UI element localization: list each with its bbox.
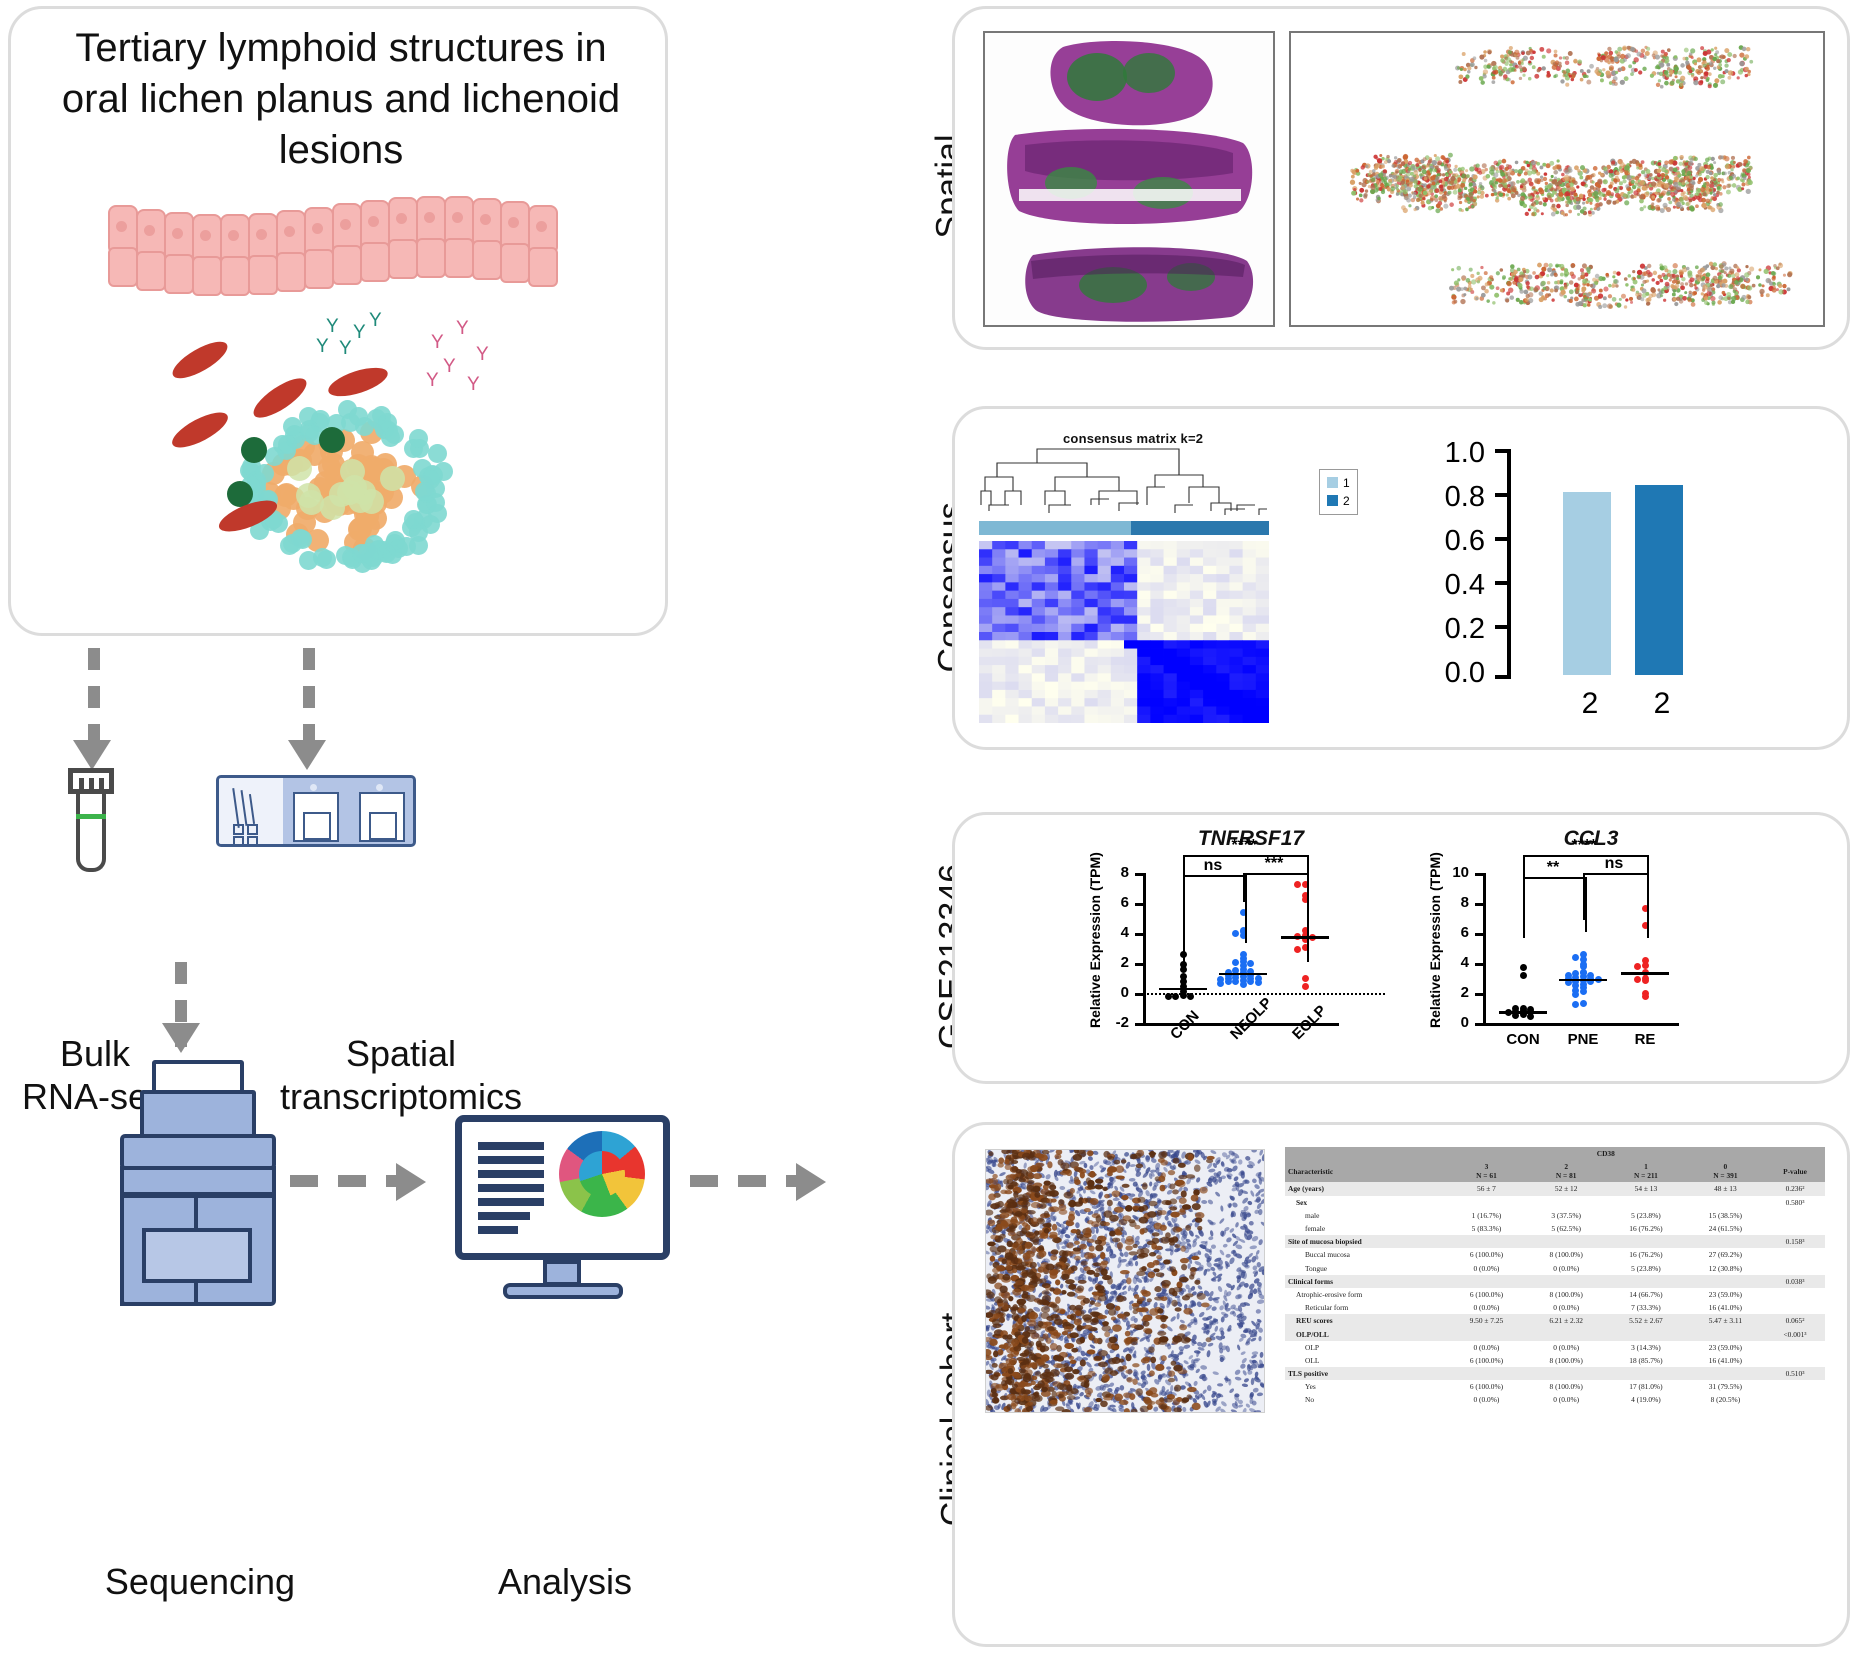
he-stained-tissue-image bbox=[983, 31, 1275, 327]
heatmap-cell bbox=[1243, 558, 1257, 567]
spatial-spot bbox=[1608, 184, 1612, 188]
spatial-spot bbox=[1661, 290, 1665, 294]
heatmap-cell bbox=[1124, 574, 1138, 583]
spatial-spot bbox=[1624, 200, 1629, 205]
spatial-spot bbox=[1658, 79, 1661, 82]
heatmap-cell bbox=[1190, 649, 1204, 658]
heatmap-cell bbox=[1256, 673, 1269, 682]
spatial-spot bbox=[1452, 300, 1456, 304]
spatial-spot bbox=[1509, 63, 1513, 67]
heatmap-cell bbox=[1032, 607, 1046, 616]
heatmap-cell bbox=[979, 706, 993, 715]
spatial-spot bbox=[1665, 282, 1670, 287]
heatmap-cell bbox=[1111, 541, 1125, 550]
spatial-spot bbox=[1661, 50, 1665, 54]
spatial-spot bbox=[1462, 178, 1466, 182]
spatial-spot bbox=[1612, 201, 1616, 205]
spatial-spot bbox=[1359, 194, 1363, 198]
spatial-spot bbox=[1727, 76, 1731, 80]
heatmap-cell bbox=[1058, 665, 1072, 674]
spatial-spot bbox=[1657, 162, 1661, 166]
heatmap-cell bbox=[1243, 615, 1257, 624]
spatial-spot bbox=[1760, 294, 1763, 297]
data-point bbox=[1642, 993, 1649, 1000]
spatial-spot bbox=[1657, 183, 1661, 187]
x-tick-label: CON bbox=[1501, 1031, 1545, 1048]
spatial-spot bbox=[1439, 207, 1443, 211]
spatial-spot bbox=[1546, 48, 1551, 53]
tube-cap bbox=[68, 768, 114, 794]
spatial-spot bbox=[1547, 267, 1552, 272]
spatial-spot bbox=[1672, 274, 1676, 278]
spatial-spot bbox=[1533, 207, 1537, 211]
spatial-spot bbox=[1641, 49, 1645, 53]
heatmap-cell bbox=[1243, 624, 1257, 633]
spatial-spot bbox=[1454, 173, 1458, 177]
spatial-spot bbox=[1436, 203, 1441, 208]
y-tick bbox=[1135, 903, 1143, 906]
t-cell bbox=[265, 447, 284, 466]
spatial-spot bbox=[1480, 80, 1484, 84]
spatial-spot bbox=[1709, 171, 1713, 175]
heatmap-cell bbox=[1177, 624, 1191, 633]
heatmap-cell bbox=[1177, 682, 1191, 691]
spatial-spot bbox=[1668, 200, 1672, 204]
spatial-spot bbox=[1365, 189, 1368, 192]
spatial-spot bbox=[1680, 282, 1684, 286]
spatial-spot bbox=[1480, 266, 1483, 269]
heatmap-cell bbox=[1190, 558, 1204, 567]
bar-ytick-label-3: 0.4 bbox=[1415, 569, 1485, 602]
data-point bbox=[1187, 993, 1194, 1000]
spatial-spot bbox=[1613, 178, 1617, 182]
heatmap-cell bbox=[1071, 566, 1085, 575]
spatial-spot bbox=[1669, 70, 1674, 75]
spatial-spot bbox=[1787, 272, 1792, 277]
heatmap-cell bbox=[1137, 549, 1151, 558]
heatmap-cell bbox=[1098, 690, 1112, 699]
ihc-cd38-image bbox=[985, 1149, 1265, 1413]
heatmap-cell bbox=[1084, 599, 1098, 608]
spatial-spot bbox=[1749, 60, 1753, 64]
antibody-icon: Y bbox=[467, 375, 480, 394]
heatmap-cell bbox=[1005, 673, 1019, 682]
heatmap-cell bbox=[1124, 649, 1138, 658]
spatial-spot bbox=[1706, 78, 1710, 82]
spatial-spot bbox=[1707, 287, 1712, 292]
heatmap-cell bbox=[1058, 649, 1072, 658]
spatial-spot bbox=[1718, 74, 1723, 79]
heatmap-cell bbox=[1137, 615, 1151, 624]
tube-liquid bbox=[76, 814, 106, 819]
spatial-spot bbox=[1663, 265, 1668, 270]
spatial-spot bbox=[1519, 300, 1523, 304]
spatial-spot bbox=[1554, 272, 1557, 275]
heatmap-cell bbox=[1032, 715, 1046, 723]
spatial-spot bbox=[1716, 59, 1720, 63]
heatmap-cell bbox=[992, 640, 1006, 649]
heatmap-cell bbox=[1032, 682, 1046, 691]
spatial-spot bbox=[1622, 45, 1627, 50]
spatial-spot bbox=[1588, 193, 1592, 197]
heatmap-cell bbox=[1164, 566, 1178, 575]
spatial-spot bbox=[1576, 205, 1581, 210]
spatial-spot bbox=[1729, 176, 1733, 180]
spatial-spot bbox=[1554, 176, 1557, 179]
heatmap-cell bbox=[1177, 558, 1191, 567]
spatial-spot bbox=[1484, 59, 1488, 63]
spatial-spot bbox=[1743, 176, 1747, 180]
basal-epithelial-cell bbox=[276, 252, 306, 292]
heatmap-cell bbox=[1084, 566, 1098, 575]
caption-analysis: Analysis bbox=[450, 1560, 680, 1603]
spatial-spot bbox=[1598, 69, 1602, 73]
spatial-spot bbox=[1489, 181, 1494, 186]
spatial-spot bbox=[1540, 176, 1543, 179]
spatial-spot bbox=[1527, 275, 1532, 280]
spatial-spot bbox=[1632, 159, 1637, 164]
spatial-spot bbox=[1582, 202, 1585, 205]
spatial-spot bbox=[1613, 279, 1618, 284]
arrow-head-to-sequencing bbox=[162, 1023, 200, 1053]
spatial-spot bbox=[1724, 63, 1728, 67]
spatial-spot bbox=[1355, 169, 1359, 173]
spatial-spot bbox=[1552, 166, 1556, 170]
heatmap-cell bbox=[1058, 591, 1072, 600]
heatmap-cell bbox=[1243, 690, 1257, 699]
heatmap-cell bbox=[1256, 698, 1269, 707]
heatmap-cell bbox=[1203, 624, 1217, 633]
median-line bbox=[1621, 972, 1669, 975]
spatial-spot bbox=[1411, 165, 1415, 169]
basal-epithelial-cell bbox=[388, 239, 418, 279]
heatmap-cell bbox=[1058, 607, 1072, 616]
spatial-spot bbox=[1516, 298, 1520, 302]
spatial-spot bbox=[1514, 50, 1519, 55]
spatial-spot bbox=[1787, 287, 1791, 291]
data-point bbox=[1172, 993, 1179, 1000]
spatial-spot bbox=[1564, 274, 1568, 278]
spatial-spot bbox=[1608, 294, 1612, 298]
legend-item-1: 1 bbox=[1327, 474, 1350, 492]
heatmap-cell bbox=[1190, 615, 1204, 624]
spatial-spot bbox=[1673, 156, 1678, 161]
heatmap-cell bbox=[1229, 673, 1243, 682]
heatmap-cell bbox=[1005, 657, 1019, 666]
spatial-spot bbox=[1552, 204, 1556, 208]
spatial-spot bbox=[1506, 281, 1511, 286]
plot-tnfrsf17: TNFRSF1786420-2Relative Expression (TPM)… bbox=[1065, 825, 1395, 1077]
spatial-spot bbox=[1557, 186, 1561, 190]
heatmap-cell bbox=[1150, 640, 1164, 649]
spatial-spot bbox=[1502, 178, 1507, 183]
heatmap-cell bbox=[1177, 615, 1191, 624]
spatial-spot bbox=[1655, 55, 1660, 60]
heatmap-cell bbox=[1229, 566, 1243, 575]
spatial-spot bbox=[1434, 154, 1437, 157]
spatial-spot bbox=[1711, 196, 1715, 200]
spatial-spot bbox=[1568, 210, 1572, 214]
heatmap-cell bbox=[1229, 558, 1243, 567]
spatial-spot bbox=[1408, 194, 1412, 198]
heatmap-cell bbox=[1150, 558, 1164, 567]
heatmap-cell bbox=[1190, 591, 1204, 600]
spatial-spot bbox=[1376, 180, 1380, 184]
epithelial-cell-nucleus bbox=[368, 216, 379, 227]
spatial-spot bbox=[1581, 289, 1585, 293]
t-cell bbox=[385, 425, 404, 444]
spatial-spot bbox=[1485, 194, 1489, 198]
heatmap-cell bbox=[979, 665, 993, 674]
spatial-spot bbox=[1370, 185, 1375, 190]
spatial-spot bbox=[1514, 69, 1517, 72]
spatial-spot bbox=[1713, 262, 1717, 266]
heatmap-cell bbox=[1058, 690, 1072, 699]
heatmap-cell bbox=[1177, 549, 1191, 558]
heatmap-cell bbox=[1256, 574, 1269, 583]
spatial-spot bbox=[1458, 74, 1463, 79]
data-point bbox=[1232, 978, 1239, 985]
spatial-spot bbox=[1614, 57, 1619, 62]
y-tick bbox=[1135, 963, 1143, 966]
heatmap-cell bbox=[1216, 591, 1230, 600]
heatmap-cell bbox=[1256, 591, 1269, 600]
spatial-spot bbox=[1681, 192, 1685, 196]
spatial-spot bbox=[1469, 182, 1473, 186]
spatial-spot bbox=[1558, 180, 1562, 184]
spatial-spot bbox=[1691, 74, 1694, 77]
bar-cluster-1 bbox=[1563, 492, 1611, 675]
spatial-spot bbox=[1531, 160, 1536, 165]
spatial-spot bbox=[1593, 191, 1598, 196]
heatmap-cell bbox=[1045, 549, 1059, 558]
heatmap-cell bbox=[992, 574, 1006, 583]
spatial-spot bbox=[1711, 48, 1714, 51]
spatial-spot bbox=[1520, 178, 1525, 183]
significance-bracket bbox=[1583, 873, 1649, 920]
spatial-spot bbox=[1508, 277, 1511, 280]
spatial-spot bbox=[1699, 69, 1702, 72]
heatmap-cell bbox=[1203, 698, 1217, 707]
spatial-spot bbox=[1485, 168, 1488, 171]
spatial-spot bbox=[1477, 280, 1480, 283]
spatial-spot bbox=[1514, 169, 1518, 173]
spatial-spot bbox=[1772, 277, 1776, 281]
spatial-spot bbox=[1520, 185, 1523, 188]
spatial-spot bbox=[1603, 197, 1606, 200]
spatial-spot bbox=[1564, 268, 1568, 272]
spatial-spot bbox=[1350, 169, 1354, 173]
heatmap-cell bbox=[1137, 673, 1151, 682]
spatial-spot bbox=[1423, 191, 1428, 196]
spatial-spot bbox=[1463, 68, 1467, 72]
spatial-spot bbox=[1620, 169, 1624, 173]
spatial-spot bbox=[1730, 168, 1733, 171]
heatmap-cell bbox=[1150, 698, 1164, 707]
spatial-spot bbox=[1735, 272, 1740, 277]
bar-ytick-label-1: 0.8 bbox=[1415, 481, 1485, 514]
heatmap-cell bbox=[1045, 591, 1059, 600]
spatial-spot bbox=[1695, 204, 1699, 208]
heatmap-cell bbox=[1256, 682, 1269, 691]
page-title: Tertiary lymphoid structures in oral lic… bbox=[41, 23, 641, 177]
heatmap-cell bbox=[1005, 582, 1019, 591]
heatmap-cell bbox=[1084, 690, 1098, 699]
heatmap-cell bbox=[1032, 549, 1046, 558]
heatmap-cell bbox=[1190, 715, 1204, 723]
spatial-spot bbox=[1657, 275, 1662, 280]
spatial-spot bbox=[1536, 194, 1539, 197]
spatial-spot bbox=[1508, 287, 1513, 292]
bar-ytick-label-5: 0.0 bbox=[1415, 657, 1485, 690]
heatmap-cell bbox=[1243, 566, 1257, 575]
spatial-spot bbox=[1565, 83, 1569, 87]
heatmap-cell bbox=[1216, 673, 1230, 682]
spatial-spot bbox=[1615, 71, 1618, 74]
heatmap-cell bbox=[979, 657, 993, 666]
spatial-spot bbox=[1590, 208, 1593, 211]
significance-label: ** bbox=[1523, 859, 1583, 877]
t-cell bbox=[409, 429, 428, 448]
spatial-spot bbox=[1720, 155, 1724, 159]
spatial-spot bbox=[1439, 185, 1443, 189]
heatmap-cell bbox=[1071, 591, 1085, 600]
basal-epithelial-cell bbox=[360, 242, 390, 282]
spatial-spot bbox=[1423, 157, 1427, 161]
spatial-spot bbox=[1637, 270, 1642, 275]
heatmap-cell bbox=[1203, 715, 1217, 723]
heatmap-cell bbox=[1243, 673, 1257, 682]
spatial-spot bbox=[1458, 80, 1462, 84]
heatmap-cell bbox=[1005, 599, 1019, 608]
spatial-spot bbox=[1408, 161, 1412, 165]
spatial-spot bbox=[1510, 295, 1515, 300]
spatial-spot bbox=[1503, 67, 1508, 72]
heatmap-cell bbox=[1256, 549, 1269, 558]
spatial-spot bbox=[1493, 190, 1496, 193]
heatmap-cell bbox=[1032, 582, 1046, 591]
spatial-spot bbox=[1537, 69, 1541, 73]
spatial-spot bbox=[1589, 64, 1594, 69]
spatial-spot bbox=[1408, 204, 1411, 207]
spatial-spot bbox=[1418, 168, 1422, 172]
arrow-shaft-spatial bbox=[303, 648, 315, 746]
heatmap-cell bbox=[1058, 624, 1072, 633]
heatmap-cell bbox=[1071, 615, 1085, 624]
spatial-spot bbox=[1651, 278, 1655, 282]
heatmap-cell bbox=[1164, 591, 1178, 600]
heatmap-cell bbox=[1137, 599, 1151, 608]
spatial-spot bbox=[1427, 162, 1430, 165]
heatmap-cell bbox=[1164, 706, 1178, 715]
t-cell bbox=[389, 539, 408, 558]
arrow-head-spatial bbox=[288, 740, 326, 770]
spatial-spot bbox=[1557, 159, 1560, 162]
basal-epithelial-cell bbox=[444, 238, 474, 278]
heatmap-cell bbox=[1203, 591, 1217, 600]
spatial-spot bbox=[1641, 170, 1645, 174]
spatial-spot bbox=[1542, 197, 1545, 200]
heatmap-cell bbox=[1164, 673, 1178, 682]
heatmap-cell bbox=[1124, 599, 1138, 608]
heatmap-cell bbox=[1124, 706, 1138, 715]
heatmap-cell bbox=[1045, 649, 1059, 658]
spatial-spot bbox=[1537, 263, 1542, 268]
spatial-spot bbox=[1465, 74, 1469, 78]
spatial-spot bbox=[1718, 276, 1722, 280]
spatial-spot bbox=[1599, 202, 1603, 206]
heatmap-cell bbox=[1190, 624, 1204, 633]
heatmap-cell bbox=[979, 599, 993, 608]
heatmap-cell bbox=[1137, 690, 1151, 699]
spatial-spot bbox=[1587, 175, 1592, 180]
heatmap-cell bbox=[1124, 715, 1138, 723]
spatial-spot bbox=[1470, 274, 1474, 278]
spatial-spot bbox=[1705, 279, 1710, 284]
spatial-spot bbox=[1468, 285, 1472, 289]
spatial-spot bbox=[1612, 297, 1617, 302]
spatial-spot bbox=[1529, 286, 1534, 291]
spatial-spot bbox=[1484, 271, 1488, 275]
spatial-spot bbox=[1657, 169, 1661, 173]
spatial-spot bbox=[1733, 161, 1736, 164]
heatmap-cell bbox=[1216, 690, 1230, 699]
arrow-head-bulk bbox=[73, 740, 111, 770]
y-axis bbox=[1143, 873, 1146, 1023]
heatmap-cell bbox=[1032, 698, 1046, 707]
spatial-spot bbox=[1493, 185, 1497, 189]
heatmap-cell bbox=[1032, 640, 1046, 649]
heatmap-cell bbox=[1124, 549, 1138, 558]
spatial-spot bbox=[1542, 66, 1546, 70]
heatmap-cell bbox=[1243, 607, 1257, 616]
spatial-spot bbox=[1565, 177, 1570, 182]
spatial-spot bbox=[1708, 84, 1712, 88]
heatmap-cell bbox=[1084, 549, 1098, 558]
heatmap-cell bbox=[1137, 698, 1151, 707]
spatial-spot bbox=[1684, 291, 1687, 294]
spatial-spot bbox=[1492, 70, 1496, 74]
spatial-spot bbox=[1631, 288, 1635, 292]
heatmap-cell bbox=[1216, 615, 1230, 624]
spatial-spot bbox=[1764, 269, 1769, 274]
heatmap-cell bbox=[1190, 698, 1204, 707]
spatial-spot bbox=[1553, 208, 1557, 212]
heatmap-cell bbox=[1045, 574, 1059, 583]
spatial-spot bbox=[1560, 281, 1564, 285]
spatial-spot bbox=[1673, 206, 1676, 209]
spatial-spot bbox=[1439, 179, 1443, 183]
spatial-spot bbox=[1552, 179, 1557, 184]
heatmap-cell bbox=[1098, 657, 1112, 666]
spatial-spot bbox=[1617, 194, 1621, 198]
heatmap-cell bbox=[1005, 574, 1019, 583]
spatial-spot bbox=[1530, 56, 1534, 60]
spatial-spot bbox=[1630, 72, 1634, 76]
epithelial-cell-nucleus bbox=[424, 212, 435, 223]
heatmap-cell bbox=[1005, 640, 1019, 649]
heatmap-cell bbox=[1190, 657, 1204, 666]
spatial-spot bbox=[1587, 303, 1591, 307]
spatial-spot bbox=[1710, 192, 1713, 195]
heatmap-cell bbox=[1045, 558, 1059, 567]
spatial-spot bbox=[1471, 205, 1475, 209]
spatial-spot bbox=[1607, 54, 1612, 59]
heatmap-cell bbox=[1137, 640, 1151, 649]
median-line bbox=[1159, 988, 1207, 991]
spatial-spot bbox=[1450, 186, 1454, 190]
spatial-spot bbox=[1559, 264, 1564, 269]
